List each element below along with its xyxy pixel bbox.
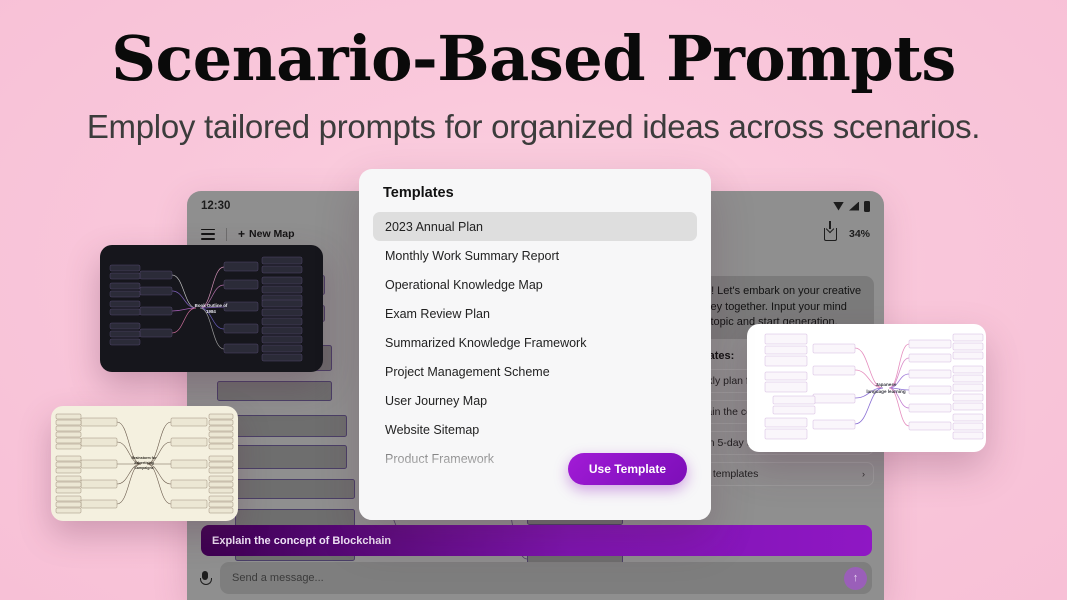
mindmap-card-white-graphic: Japanese language learning <box>747 324 986 452</box>
template-item-summarized-knowledge-framework[interactable]: Summarized Knowledge Framework <box>373 328 697 357</box>
svg-text:Campaigns: Campaigns <box>134 466 153 470</box>
template-label: Summarized Knowledge Framework <box>385 336 586 350</box>
download-icon[interactable] <box>824 228 837 241</box>
battery-icon <box>864 201 870 212</box>
use-template-button[interactable]: Use Template <box>568 453 687 485</box>
mindmap-card-advertising[interactable]: Brainstorm for Advertising Campaigns <box>51 406 238 521</box>
mindmap-card-cream-graphic: Brainstorm for Advertising Campaigns <box>51 406 238 521</box>
mindmap-node[interactable] <box>235 415 347 437</box>
template-label: Website Sitemap <box>385 423 479 437</box>
svg-text:language learning: language learning <box>866 389 906 394</box>
template-label: Product Framework <box>385 452 494 466</box>
template-item-monthly-work-summary-report[interactable]: Monthly Work Summary Report <box>373 241 697 270</box>
message-input-placeholder: Send a message... <box>232 572 324 584</box>
template-item-user-journey-map[interactable]: User Journey Map <box>373 386 697 415</box>
template-label: Operational Knowledge Map <box>385 278 543 292</box>
mindmap-card-book-outline[interactable]: Book Outline of 1984 <box>100 245 323 372</box>
template-item-2023-annual-plan[interactable]: 2023 Annual Plan <box>373 212 697 241</box>
template-item-exam-review-plan[interactable]: Exam Review Plan <box>373 299 697 328</box>
hamburger-icon[interactable] <box>201 229 215 240</box>
svg-text:Advertising: Advertising <box>134 461 154 465</box>
page-subtitle: Employ tailored prompts for organized id… <box>0 108 1067 146</box>
mindmap-card-dark-graphic: Book Outline of 1984 <box>100 245 323 372</box>
new-map-label: New Map <box>249 228 295 240</box>
template-item-project-management-scheme[interactable]: Project Management Scheme <box>373 357 697 386</box>
mindmap-card-white-title: Japanese <box>876 382 897 387</box>
template-label: Monthly Work Summary Report <box>385 249 559 263</box>
chevron-right-icon: › <box>862 469 865 479</box>
toolbar-divider <box>226 228 227 241</box>
message-input[interactable]: Send a message... ↑ <box>220 562 872 594</box>
mindmap-node[interactable] <box>217 381 332 401</box>
mindmap-card-dark-title: Book Outline of <box>195 303 228 308</box>
send-arrow-up-icon[interactable]: ↑ <box>844 567 867 590</box>
new-map-button[interactable]: + New Map <box>238 228 295 240</box>
template-item-website-sitemap[interactable]: Website Sitemap <box>373 415 697 444</box>
battery-percent: 34% <box>849 228 870 240</box>
mindmap-node[interactable] <box>235 445 347 469</box>
chat-input-row: Send a message... ↑ <box>199 562 872 594</box>
templates-modal: Templates 2023 Annual Plan Monthly Work … <box>359 169 711 520</box>
active-prompt-bubble[interactable]: Explain the concept of Blockchain <box>201 525 872 556</box>
microphone-icon[interactable] <box>199 571 212 586</box>
template-label: Exam Review Plan <box>385 307 490 321</box>
plus-icon: + <box>238 228 245 240</box>
mindmap-card-cream-title: Brainstorm for <box>132 456 158 460</box>
modal-title: Templates <box>383 185 454 201</box>
status-time: 12:30 <box>201 200 230 212</box>
template-label: 2023 Annual Plan <box>385 220 483 234</box>
template-label: User Journey Map <box>385 394 487 408</box>
mindmap-card-japanese[interactable]: Japanese language learning <box>747 324 986 452</box>
template-label: Project Management Scheme <box>385 365 550 379</box>
template-item-operational-knowledge-map[interactable]: Operational Knowledge Map <box>373 270 697 299</box>
page-title: Scenario-Based Prompts <box>0 26 1067 91</box>
mindmap-node[interactable] <box>235 479 355 499</box>
svg-text:1984: 1984 <box>206 309 216 314</box>
wifi-icon <box>833 202 844 211</box>
signal-icon <box>849 202 859 211</box>
